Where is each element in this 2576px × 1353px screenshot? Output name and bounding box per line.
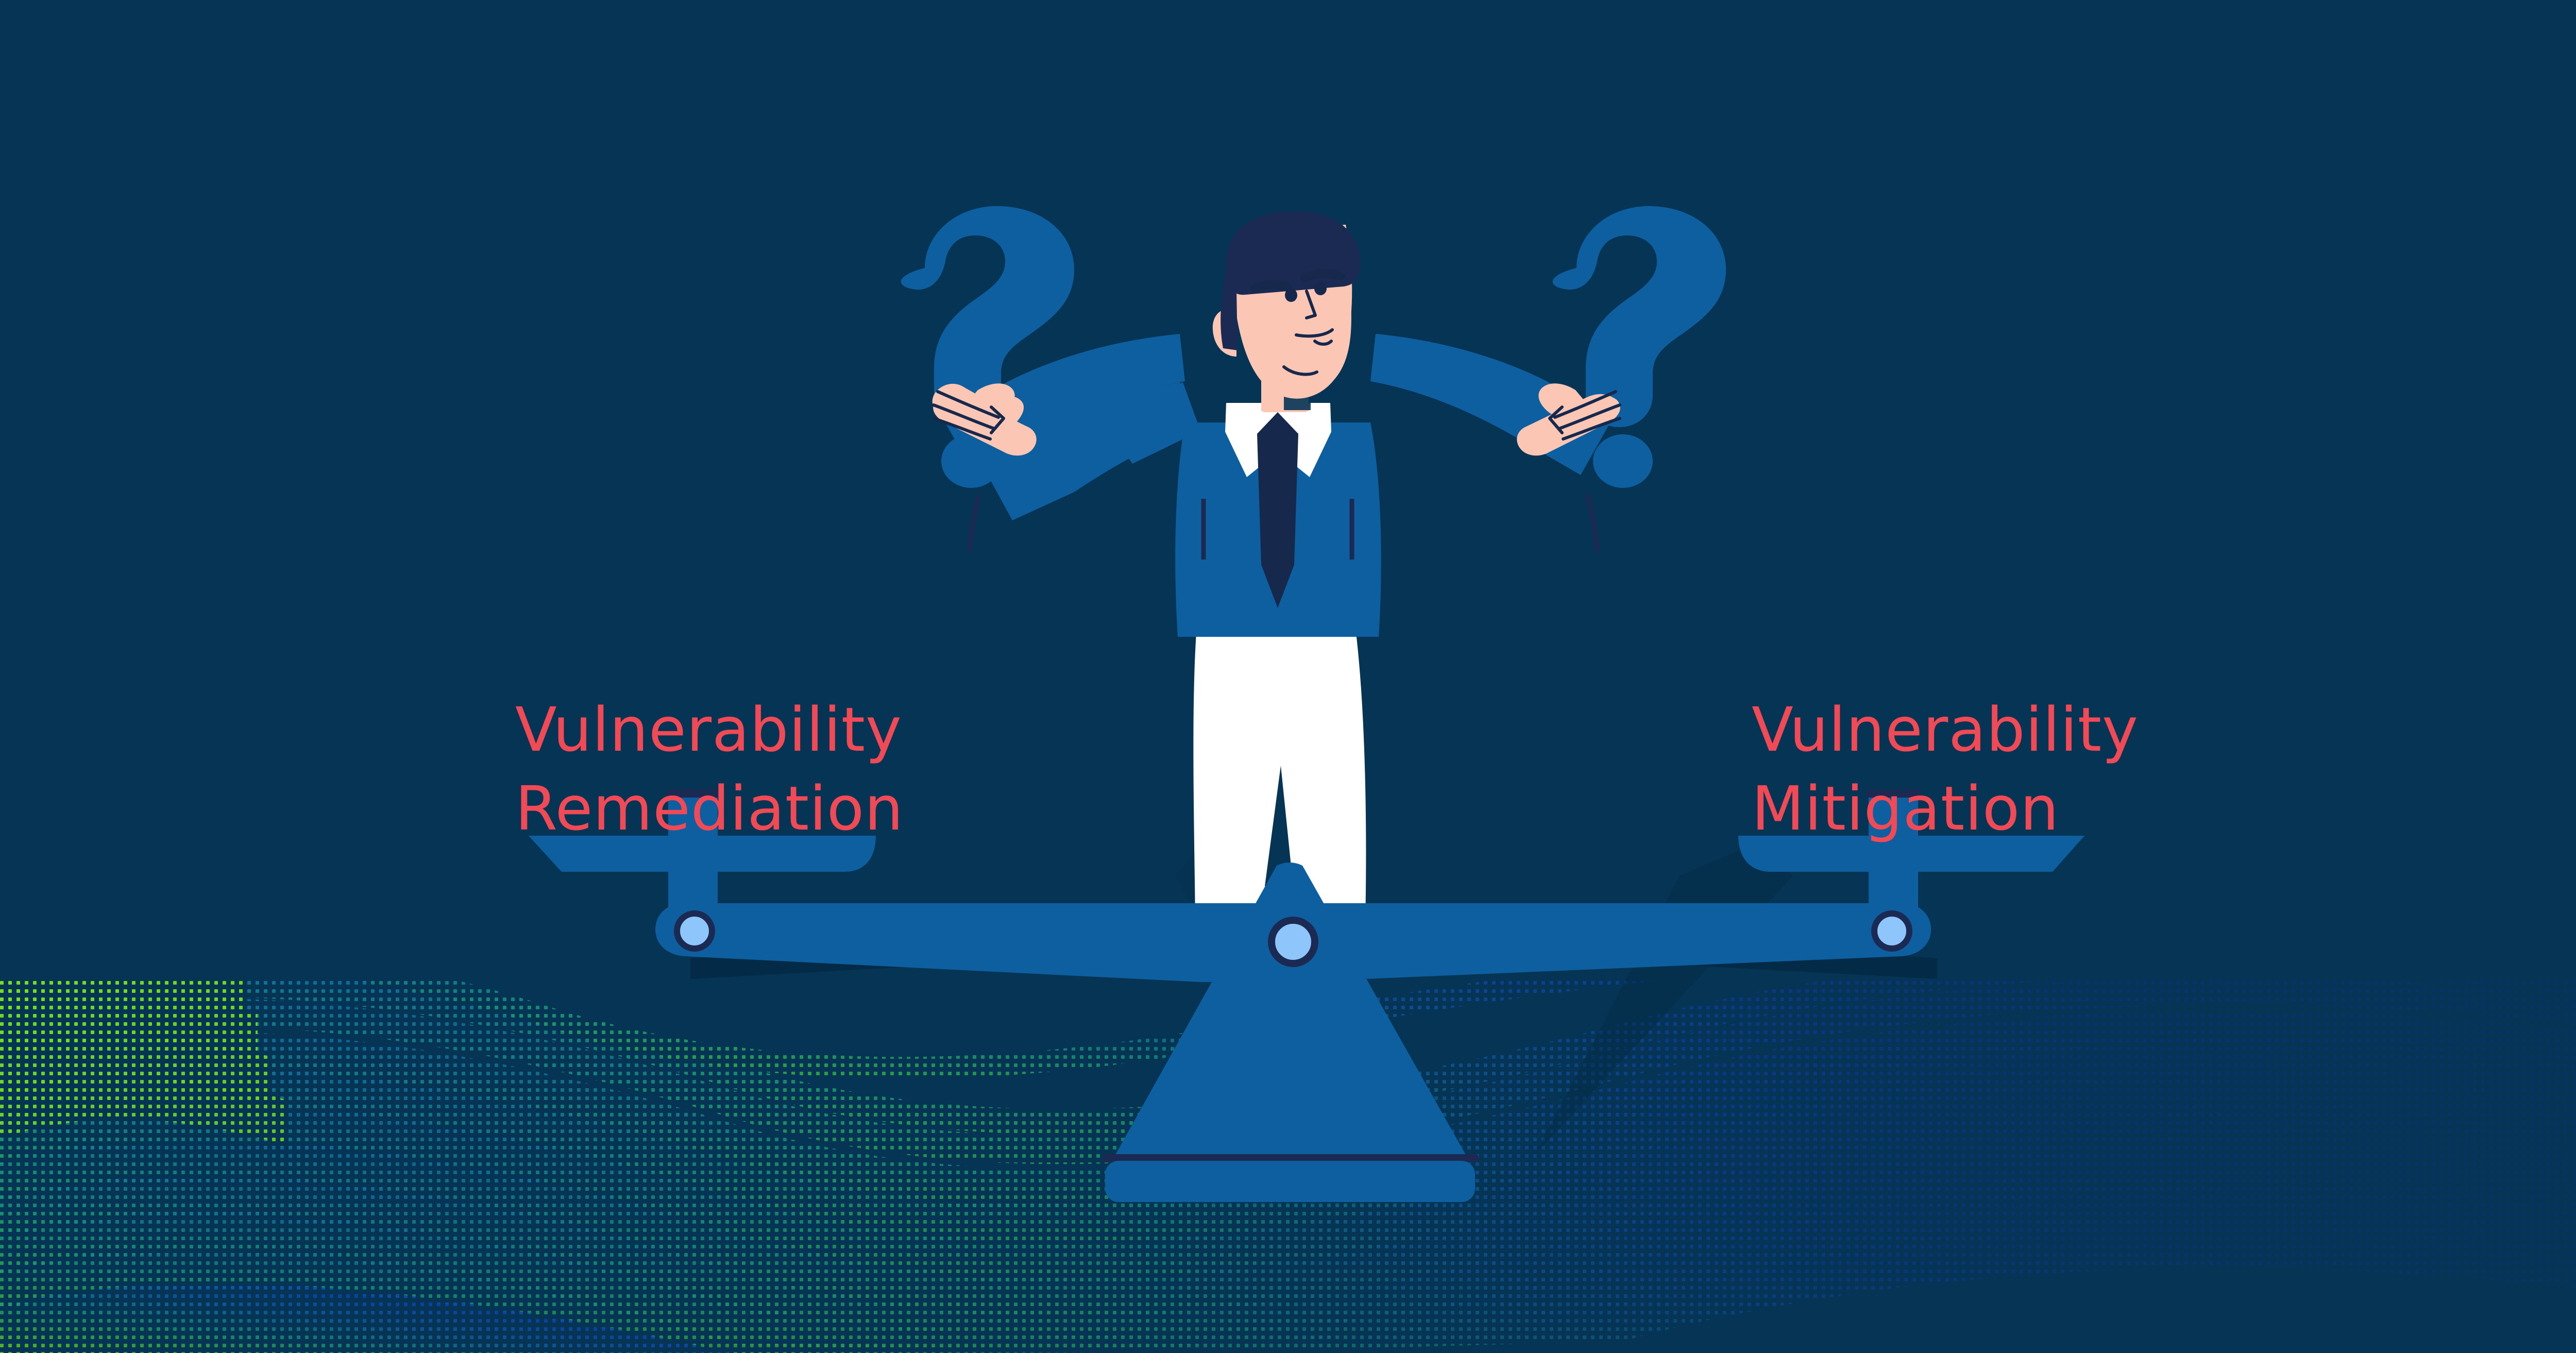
left-scale-label: Vulnerability Remediation — [515, 690, 979, 849]
right-scale-label: Vulnerability Mitigation — [1752, 690, 2215, 849]
fulcrum-base — [1105, 1161, 1475, 1202]
illustration-stage: Vulnerability Remediation Vulnerability … — [0, 0, 2576, 1353]
scene-artwork — [0, 0, 2576, 1353]
right-pivot — [1874, 914, 1909, 949]
left-pivot — [677, 914, 712, 949]
center-pivot — [1272, 920, 1315, 963]
